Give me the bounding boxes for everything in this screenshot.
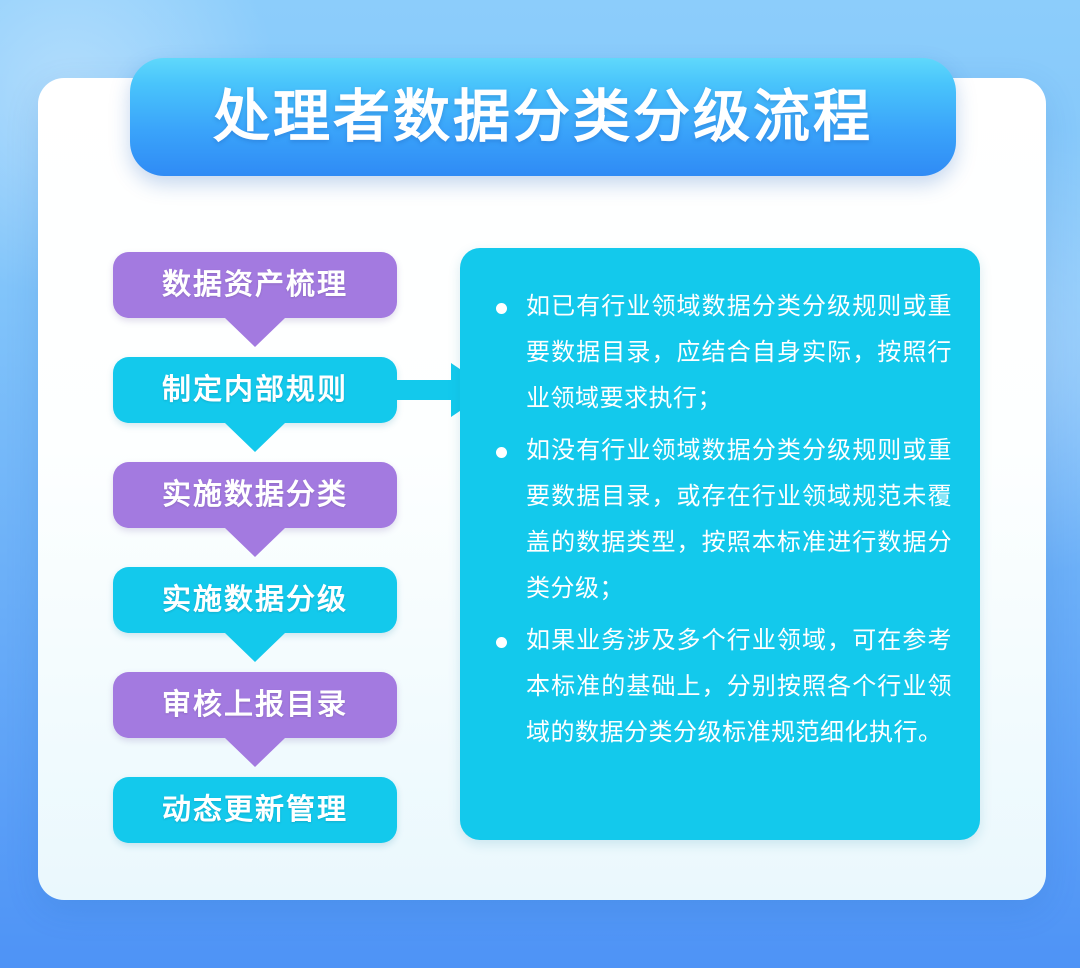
infographic-canvas: 处理者数据分类分级流程 数据资产梳理 制定内部规则 实施数据分类 实施数据分级 … [0, 0, 1080, 968]
page-title: 处理者数据分类分级流程 [213, 89, 873, 146]
down-arrow-icon [225, 423, 285, 452]
list-item-text: 如已有行业领域数据分类分级规则或重要数据目录，应结合自身实际，按照行业领域要求执… [526, 293, 952, 412]
down-arrow-icon [225, 318, 285, 347]
list-item-text: 如果业务涉及多个行业领域，可在参考本标准的基础上，分别按照各个行业领域的数据分类… [526, 627, 952, 746]
list-item: 如没有行业领域数据分类分级规则或重要数据目录，或存在行业领域规范未覆盖的数据类型… [488, 428, 952, 612]
flow-step-5[interactable]: 审核上报目录 [113, 672, 397, 738]
flow-step-6[interactable]: 动态更新管理 [113, 777, 397, 843]
down-arrow-icon [225, 528, 285, 557]
list-item: 如果业务涉及多个行业领域，可在参考本标准的基础上，分别按照各个行业领域的数据分类… [488, 618, 952, 756]
list-item: 如已有行业领域数据分类分级规则或重要数据目录，应结合自身实际，按照行业领域要求执… [488, 284, 952, 422]
down-arrow-icon [225, 738, 285, 767]
bullet-dot-icon [496, 303, 507, 314]
flow-step-5-label: 审核上报目录 [162, 691, 348, 720]
process-flow-column: 数据资产梳理 制定内部规则 实施数据分类 实施数据分级 审核上报目录 动态更新管… [113, 252, 397, 843]
guideline-list: 如已有行业领域数据分类分级规则或重要数据目录，应结合自身实际，按照行业领域要求执… [488, 284, 952, 756]
flow-step-6-label: 动态更新管理 [162, 796, 348, 825]
info-panel: 如已有行业领域数据分类分级规则或重要数据目录，应结合自身实际，按照行业领域要求执… [460, 248, 980, 840]
list-item-text: 如没有行业领域数据分类分级规则或重要数据目录，或存在行业领域规范未覆盖的数据类型… [526, 437, 952, 602]
flow-step-1[interactable]: 数据资产梳理 [113, 252, 397, 318]
title-banner: 处理者数据分类分级流程 [130, 58, 956, 176]
flow-step-2-label: 制定内部规则 [162, 376, 348, 405]
flow-step-4-label: 实施数据分级 [162, 586, 348, 615]
flow-step-3[interactable]: 实施数据分类 [113, 462, 397, 528]
flow-step-3-label: 实施数据分类 [162, 481, 348, 510]
down-arrow-icon [225, 633, 285, 662]
bullet-dot-icon [496, 447, 507, 458]
flow-step-1-label: 数据资产梳理 [162, 271, 348, 300]
flow-step-4[interactable]: 实施数据分级 [113, 567, 397, 633]
bullet-dot-icon [496, 637, 507, 648]
flow-step-2[interactable]: 制定内部规则 [113, 357, 397, 423]
